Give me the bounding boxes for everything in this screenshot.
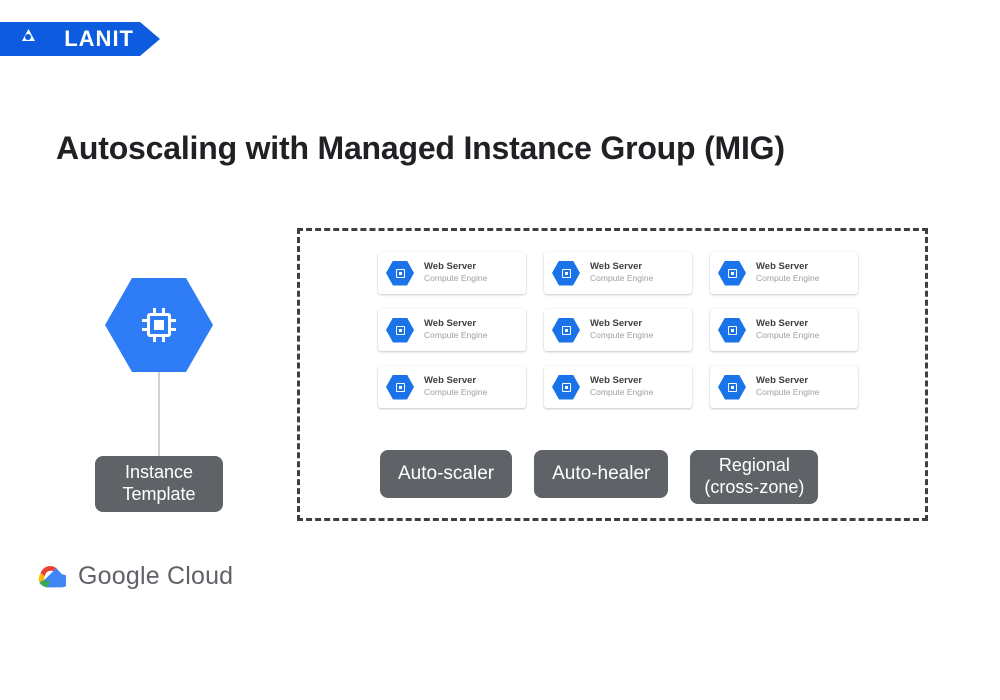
web-server-card-title: Web Server	[590, 375, 653, 387]
web-server-card-title: Web Server	[424, 318, 487, 330]
web-server-card-subtitle: Compute Engine	[590, 330, 653, 341]
web-server-card-subtitle: Compute Engine	[756, 273, 819, 284]
compute-engine-hexagon-icon	[386, 261, 414, 286]
connector-line	[158, 372, 160, 456]
regional-label-line2: (cross-zone)	[704, 477, 804, 499]
web-server-card-title: Web Server	[756, 318, 819, 330]
cpu-chip-icon	[395, 268, 406, 279]
compute-engine-hexagon-icon	[105, 278, 213, 372]
compute-engine-hexagon-icon	[386, 318, 414, 343]
google-cloud-icon	[36, 564, 66, 590]
instance-template-label-line1: Instance	[122, 462, 195, 484]
web-server-card[interactable]: Web Server Compute Engine	[710, 252, 858, 294]
web-server-card[interactable]: Web Server Compute Engine	[378, 366, 526, 408]
web-server-card-grid: Web Server Compute Engine Web Server Com…	[378, 252, 858, 408]
web-server-card-title: Web Server	[590, 318, 653, 330]
web-server-card-subtitle: Compute Engine	[424, 387, 487, 398]
lanit-logo-text: LANIT	[64, 28, 134, 50]
page-title: Autoscaling with Managed Instance Group …	[56, 130, 785, 167]
web-server-card-title: Web Server	[424, 261, 487, 273]
google-cloud-text: Google Cloud	[78, 562, 233, 591]
instance-template-label-line2: Template	[122, 484, 195, 506]
web-server-card[interactable]: Web Server Compute Engine	[544, 252, 692, 294]
web-server-card-subtitle: Compute Engine	[424, 330, 487, 341]
compute-engine-hexagon-icon	[552, 318, 580, 343]
cpu-chip-icon	[561, 382, 572, 393]
web-server-card-subtitle: Compute Engine	[424, 273, 487, 284]
web-server-card-subtitle: Compute Engine	[590, 273, 653, 284]
web-server-card[interactable]: Web Server Compute Engine	[710, 366, 858, 408]
web-server-card-subtitle: Compute Engine	[756, 387, 819, 398]
cpu-chip-icon	[395, 325, 406, 336]
compute-engine-hexagon-icon	[718, 318, 746, 343]
auto-healer-box: Auto-healer	[534, 450, 668, 498]
cpu-chip-icon	[395, 382, 406, 393]
cpu-chip-icon	[561, 325, 572, 336]
web-server-card[interactable]: Web Server Compute Engine	[378, 252, 526, 294]
cpu-chip-icon	[727, 268, 738, 279]
mig-feature-row: Auto-scaler Auto-healer Regional (cross-…	[380, 450, 818, 504]
web-server-card[interactable]: Web Server Compute Engine	[544, 366, 692, 408]
cpu-chip-icon	[561, 268, 572, 279]
instance-template-group	[96, 278, 222, 372]
compute-engine-hexagon-icon	[718, 375, 746, 400]
instance-template-box: Instance Template	[95, 456, 223, 512]
cpu-chip-icon	[727, 325, 738, 336]
compute-engine-hexagon-icon	[386, 375, 414, 400]
compute-engine-hexagon-icon	[552, 375, 580, 400]
regional-cross-zone-box: Regional (cross-zone)	[690, 450, 818, 504]
web-server-card[interactable]: Web Server Compute Engine	[544, 309, 692, 351]
auto-scaler-box: Auto-scaler	[380, 450, 512, 498]
lanit-logo-banner: LANIT	[0, 22, 160, 56]
compute-engine-hexagon-icon	[718, 261, 746, 286]
compute-engine-hexagon-icon	[552, 261, 580, 286]
cpu-chip-icon	[727, 382, 738, 393]
web-server-card-title: Web Server	[590, 261, 653, 273]
web-server-card[interactable]: Web Server Compute Engine	[710, 309, 858, 351]
web-server-card-subtitle: Compute Engine	[590, 387, 653, 398]
web-server-card-title: Web Server	[756, 261, 819, 273]
web-server-card-subtitle: Compute Engine	[756, 330, 819, 341]
web-server-card[interactable]: Web Server Compute Engine	[378, 309, 526, 351]
triangle-dot-icon	[22, 29, 35, 41]
cpu-chip-icon	[142, 308, 176, 342]
web-server-card-title: Web Server	[756, 375, 819, 387]
web-server-card-title: Web Server	[424, 375, 487, 387]
google-cloud-lockup: Google Cloud	[36, 562, 233, 591]
regional-label-line1: Regional	[704, 455, 804, 477]
